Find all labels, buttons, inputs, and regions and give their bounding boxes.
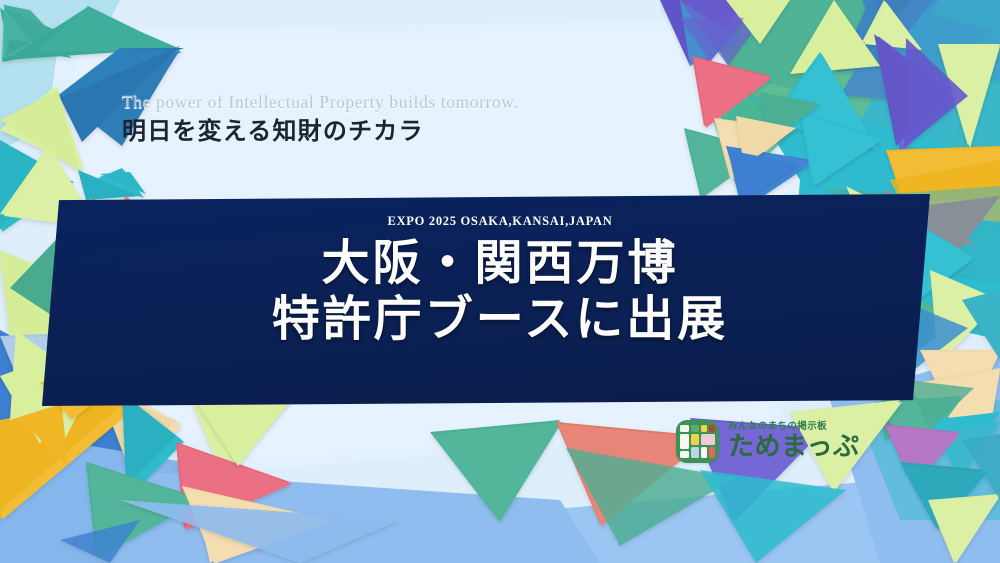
logo-tile <box>691 447 699 458</box>
tamemap-logo-tagline: みんなのまちの掲示板 <box>728 422 859 432</box>
expo-label: EXPO 2025 OSAKA,KANSAI,JAPAN <box>388 214 613 229</box>
poster-canvas: The power of Intellectual Property build… <box>0 0 1000 563</box>
logo-tile <box>680 425 689 432</box>
tagline-japanese: 明日を変える知財のチカラ <box>122 116 518 147</box>
logo-tile <box>701 447 707 458</box>
headline-line-1: 大阪・関西万博 <box>321 237 678 291</box>
headline-line-2: 特許庁ブースに出展 <box>272 293 729 347</box>
logo-tile <box>701 425 707 432</box>
tamemap-logo-name: ためまっぷ <box>728 433 859 461</box>
main-banner: EXPO 2025 OSAKA,KANSAI,JAPAN 大阪・関西万博 特許庁… <box>0 188 1000 408</box>
tamemap-logo-text: みんなのまちの掲示板 ためまっぷ <box>728 422 859 462</box>
tamemap-logo-icon <box>676 420 719 463</box>
logo-tile <box>709 447 715 458</box>
tagline-block: The power of Intellectual Property build… <box>122 92 518 147</box>
logo-tile <box>709 425 715 432</box>
logo-tile <box>701 434 715 445</box>
logo-tile <box>691 425 699 432</box>
tamemap-logo[interactable]: みんなのまちの掲示板 ためまっぷ <box>676 420 859 463</box>
tagline-english: The power of Intellectual Property build… <box>122 92 518 114</box>
logo-tile <box>691 434 699 445</box>
logo-tile <box>680 451 689 458</box>
logo-tile <box>680 434 689 449</box>
banner-content: EXPO 2025 OSAKA,KANSAI,JAPAN 大阪・関西万博 特許庁… <box>0 188 1000 408</box>
